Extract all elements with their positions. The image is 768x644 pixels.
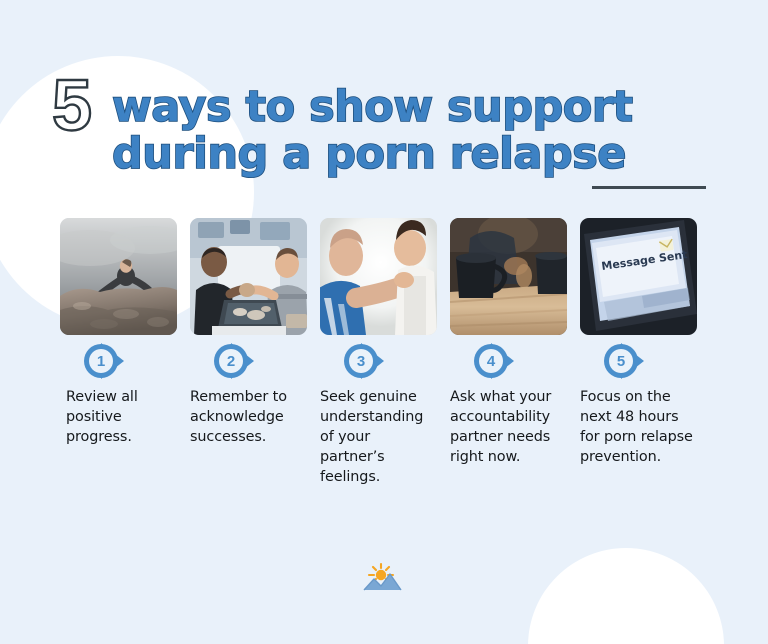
step-badge: 1 <box>60 335 177 387</box>
photo-man-comforting-person <box>320 218 437 335</box>
list-item: 1 Review all positive progress. <box>60 218 177 487</box>
step-description: Ask what your accountability partner nee… <box>450 387 567 467</box>
step-number: 3 <box>342 342 380 380</box>
decorative-blob-bottom-right <box>528 548 724 644</box>
step-number: 1 <box>82 342 120 380</box>
photo-rock-climber-reaching-ledge <box>60 218 177 335</box>
list-item: 2 Remember to acknowledge successes. <box>190 218 307 487</box>
list-item: 4 Ask what your accountability partner n… <box>450 218 567 487</box>
headline-line-1: ways to show support <box>112 84 712 130</box>
sun-over-mountains-logo <box>360 562 404 594</box>
photo-two-men-fist-bump-at-laptop <box>190 218 307 335</box>
infographic-canvas: 5 ways to show support during a porn rel… <box>0 0 768 644</box>
photo-coffee-mugs-on-wooden-table <box>450 218 567 335</box>
step-badge: 2 <box>190 335 307 387</box>
step-number: 4 <box>472 342 510 380</box>
step-badge: 4 <box>450 335 567 387</box>
step-number: 2 <box>212 342 250 380</box>
page-title: ways to show support during a porn relap… <box>112 84 712 177</box>
step-badge: 3 <box>320 335 437 387</box>
step-description: Focus on the next 48 hours for porn rela… <box>580 387 697 467</box>
title-underline-rule <box>592 186 706 189</box>
headline-big-number: 5 <box>52 70 92 142</box>
photo-phone-message-sent-screen: Message Sent <box>580 218 697 335</box>
headline-line-2: during a porn relapse <box>112 131 712 177</box>
step-description: Review all positive progress. <box>60 387 177 447</box>
step-description: Remember to acknowledge successes. <box>190 387 307 447</box>
step-description: Seek genuine understanding of your partn… <box>320 387 437 487</box>
list-item: 3 Seek genuine understanding of your par… <box>320 218 437 487</box>
step-number: 5 <box>602 342 640 380</box>
header: 5 ways to show support during a porn rel… <box>0 70 768 200</box>
list-item: Message Sent 5 <box>580 218 697 487</box>
step-badge: 5 <box>580 335 697 387</box>
steps-list: 1 Review all positive progress. <box>0 218 768 487</box>
